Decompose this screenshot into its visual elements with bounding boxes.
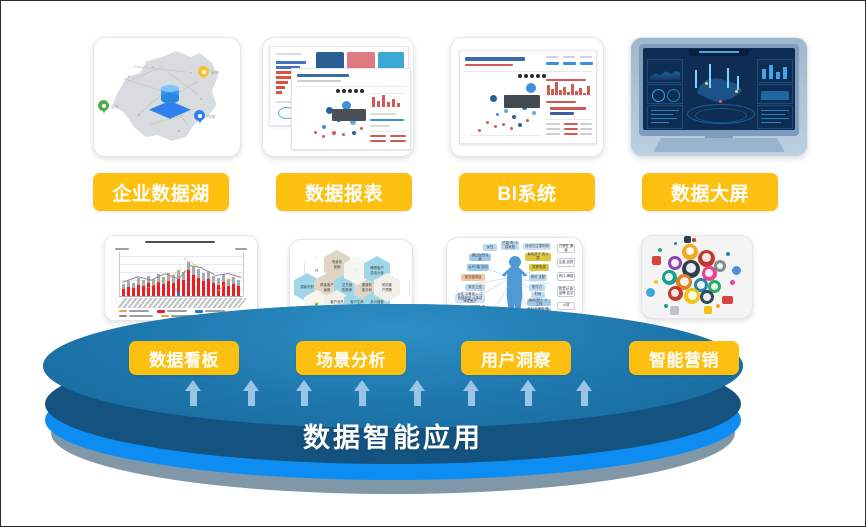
infographic-canvas: 分析 采集 存储: [0, 0, 866, 527]
button-enterprise-data-lake[interactable]: 企业数据湖: [93, 173, 229, 211]
map-pin-green-icon: [98, 100, 109, 114]
report-sheets-artwork: [263, 38, 413, 156]
monitor-artwork: [631, 38, 807, 156]
button-data-report[interactable]: 数据报表: [276, 173, 412, 211]
button-label: BI系统: [497, 179, 556, 206]
button-label: 企业数据湖: [112, 179, 210, 206]
up-arrow-icon: [520, 380, 537, 406]
map-pin-yellow-icon: [198, 66, 209, 80]
bi-dashboard-artwork: [451, 38, 603, 156]
calendar-icon: [652, 256, 661, 265]
button-label: 数据报表: [305, 179, 383, 206]
up-arrow-icon: [576, 380, 593, 406]
china-map-artwork: 分析 采集 存储: [94, 38, 240, 156]
thumbnail-bi-system[interactable]: [450, 37, 604, 157]
map-pin-blue-icon: [194, 110, 205, 124]
up-arrow-icon: [409, 380, 426, 406]
data-intelligence-platform-cylinder: 数据智能应用: [43, 298, 743, 498]
plus-icon: [684, 236, 691, 243]
thumbnail-china-data-lake[interactable]: 分析 采集 存储: [93, 37, 241, 157]
button-data-wall[interactable]: 数据大屏: [642, 173, 778, 211]
button-label: 用户洞察: [481, 346, 551, 371]
button-label: 数据大屏: [671, 179, 749, 206]
up-arrow-icon: [296, 380, 313, 406]
platform-title: 数据智能应用: [43, 416, 743, 455]
button-label: 场景分析: [316, 346, 386, 371]
thumbnail-data-reports[interactable]: [262, 37, 414, 157]
button-bi-system[interactable]: BI系统: [459, 173, 595, 211]
gear-icon: [646, 288, 655, 297]
up-arrow-icon: [185, 380, 202, 406]
clock-icon: [732, 266, 741, 275]
button-user-insight[interactable]: 用户洞察: [461, 341, 571, 375]
button-label: 数据看板: [149, 346, 219, 371]
button-scenario-analysis[interactable]: 场景分析: [296, 341, 406, 375]
up-arrow-icon: [463, 380, 480, 406]
database-icon: [149, 85, 191, 119]
button-data-board[interactable]: 数据看板: [129, 341, 239, 375]
button-smart-marketing[interactable]: 智能营销: [629, 341, 739, 375]
up-arrow-icon: [243, 380, 260, 406]
button-label: 智能营销: [649, 346, 719, 371]
thumbnail-data-wall[interactable]: [630, 37, 808, 157]
up-arrow-icon: [354, 380, 371, 406]
